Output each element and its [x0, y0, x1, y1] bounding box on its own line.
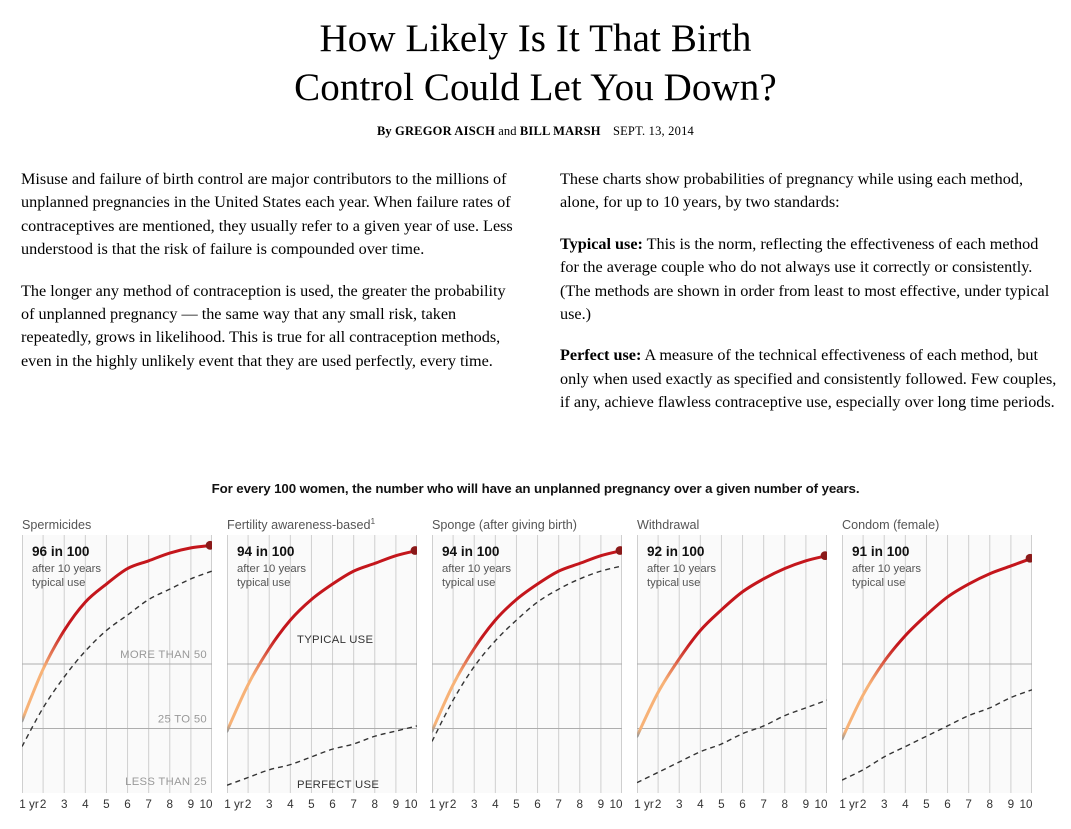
body-column-left: Misuse and failure of birth control are …	[21, 168, 518, 415]
x-axis-tick-label: 4	[492, 798, 499, 811]
panel-title: Condom (female)	[842, 515, 1032, 535]
chart-panel-spermicides: SpermicidesMORE THAN 5025 TO 50LESS THAN…	[22, 515, 212, 793]
x-axis-tick-label: 6	[534, 798, 541, 811]
x-axis-tick-label: 3	[471, 798, 478, 811]
x-axis-tick-label: 1 yr	[429, 798, 448, 811]
callout-subtext: typical use	[647, 577, 700, 589]
article-body: Misuse and failure of birth control are …	[0, 168, 1071, 415]
body-paragraph-intro: These charts show probabilities of pregn…	[560, 168, 1059, 215]
byline-author-1[interactable]: GREGOR AISCH	[395, 124, 495, 138]
x-axis-tick-label: 9	[598, 798, 605, 811]
x-axis-tick-label: 6	[124, 798, 131, 811]
callout-subtext: typical use	[442, 577, 495, 589]
band-label: MORE THAN 50	[120, 649, 207, 661]
panel-title: Sponge (after giving birth)	[432, 515, 622, 535]
x-axis-tick-label: 3	[881, 798, 888, 811]
x-axis-tick-label: 5	[923, 798, 930, 811]
x-axis-tick-label: 4	[287, 798, 294, 811]
x-axis-tick-label: 4	[82, 798, 89, 811]
chart-panel-sponge-after-giving-birth: Sponge (after giving birth)94 in 100afte…	[432, 515, 622, 793]
x-axis: 1 yr2345678910	[637, 798, 827, 818]
plot-area: 94 in 100after 10 yearstypical use	[432, 535, 622, 793]
panel-title: Withdrawal	[637, 515, 827, 535]
body-paragraph: Misuse and failure of birth control are …	[21, 168, 518, 262]
x-axis-tick-label: 8	[167, 798, 174, 811]
x-axis: 1 yr2345678910	[227, 798, 417, 818]
headline-line-1: How Likely Is It That Birth	[319, 17, 751, 60]
callout-value: 94 in 100	[442, 544, 499, 559]
x-axis-tick-label: 9	[188, 798, 195, 811]
x-axis-tick-label: 8	[372, 798, 379, 811]
x-axis-tick-label: 9	[1008, 798, 1015, 811]
x-axis-tick-label: 10	[404, 798, 417, 811]
byline-prefix: By	[377, 124, 392, 138]
x-axis-tick-label: 3	[676, 798, 683, 811]
x-axis-tick-label: 8	[782, 798, 789, 811]
callout-value: 94 in 100	[237, 544, 294, 559]
body-paragraph-perfect-use: Perfect use: A measure of the technical …	[560, 344, 1059, 414]
x-axis-group: 1 yr23456789101 yr23456789101 yr23456789…	[0, 798, 1071, 818]
x-axis-tick-label: 5	[513, 798, 520, 811]
typical-use-lead: Typical use:	[560, 235, 643, 253]
band-label: 25 TO 50	[158, 714, 207, 726]
x-axis-tick-label: 2	[655, 798, 662, 811]
x-axis-tick-label: 8	[987, 798, 994, 811]
body-column-right: These charts show probabilities of pregn…	[560, 168, 1059, 415]
byline-author-2[interactable]: BILL MARSH	[520, 124, 601, 138]
perfect-use-lead: Perfect use:	[560, 346, 641, 364]
x-axis-tick-label: 5	[103, 798, 110, 811]
x-axis-tick-label: 4	[697, 798, 704, 811]
plot-area: 91 in 100after 10 yearstypical use	[842, 535, 1032, 793]
callout-subtext: typical use	[32, 577, 85, 589]
panel-title-footnote[interactable]: 1	[371, 516, 376, 526]
x-axis-tick-label: 7	[145, 798, 152, 811]
x-axis-tick-label: 9	[803, 798, 810, 811]
x-axis-tick-label: 7	[760, 798, 767, 811]
band-label: LESS THAN 25	[125, 776, 207, 788]
x-axis-tick-label: 10	[199, 798, 212, 811]
callout-value: 92 in 100	[647, 544, 704, 559]
body-paragraph: The longer any method of contraception i…	[21, 280, 518, 374]
callout-value: 91 in 100	[852, 544, 909, 559]
x-axis-tick-label: 6	[944, 798, 951, 811]
headline-line-2: Control Could Let You Down?	[0, 63, 1071, 112]
panel-title: Spermicides	[22, 515, 212, 535]
x-axis-tick-label: 2	[450, 798, 457, 811]
x-axis-tick-label: 2	[860, 798, 867, 811]
x-axis-tick-label: 9	[393, 798, 400, 811]
callout-subtext: after 10 years	[647, 563, 716, 575]
page-title: How Likely Is It That Birth Control Coul…	[0, 0, 1071, 112]
x-axis-tick-label: 2	[245, 798, 252, 811]
x-axis-tick-label: 7	[350, 798, 357, 811]
chart-panel-fertility-awareness-based: Fertility awareness-based194 in 100after…	[227, 515, 417, 793]
x-axis: 1 yr2345678910	[842, 798, 1032, 818]
x-axis-tick-label: 1 yr	[224, 798, 243, 811]
x-axis-tick-label: 3	[61, 798, 68, 811]
chart-panel-group: SpermicidesMORE THAN 5025 TO 50LESS THAN…	[0, 515, 1071, 793]
byline-date: SEPT. 13, 2014	[613, 124, 694, 138]
byline-conjunction: and	[498, 124, 516, 138]
x-axis-tick-label: 6	[739, 798, 746, 811]
x-axis-tick-label: 1 yr	[839, 798, 858, 811]
body-paragraph-typical-use: Typical use: This is the norm, reflectin…	[560, 233, 1059, 327]
callout-subtext: after 10 years	[237, 563, 306, 575]
x-axis: 1 yr2345678910	[22, 798, 212, 818]
chart-panel-withdrawal: Withdrawal92 in 100after 10 yearstypical…	[637, 515, 827, 793]
x-axis-tick-label: 10	[1019, 798, 1032, 811]
x-axis-tick-label: 2	[40, 798, 47, 811]
x-axis-tick-label: 1 yr	[19, 798, 38, 811]
x-axis-tick-label: 3	[266, 798, 273, 811]
x-axis: 1 yr2345678910	[432, 798, 622, 818]
panel-title: Fertility awareness-based1	[227, 515, 417, 535]
callout-subtext: typical use	[237, 577, 290, 589]
x-axis-tick-label: 10	[609, 798, 622, 811]
chart-subtitle: For every 100 women, the number who will…	[0, 481, 1071, 496]
plot-area: MORE THAN 5025 TO 50LESS THAN 2596 in 10…	[22, 535, 212, 793]
byline: By GREGOR AISCH and BILL MARSH SEPT. 13,…	[0, 124, 1071, 139]
x-axis-tick-label: 4	[902, 798, 909, 811]
x-axis-tick-label: 5	[308, 798, 315, 811]
x-axis-tick-label: 7	[965, 798, 972, 811]
series-label-typical-use: TYPICAL USE	[297, 634, 373, 646]
callout-subtext: after 10 years	[32, 563, 101, 575]
x-axis-tick-label: 1 yr	[634, 798, 653, 811]
callout-value: 96 in 100	[32, 544, 89, 559]
callout-subtext: after 10 years	[852, 563, 921, 575]
x-axis-tick-label: 8	[577, 798, 584, 811]
x-axis-tick-label: 7	[555, 798, 562, 811]
x-axis-tick-label: 5	[718, 798, 725, 811]
series-label-perfect-use: PERFECT USE	[297, 779, 379, 791]
x-axis-tick-label: 6	[329, 798, 336, 811]
x-axis-tick-label: 10	[814, 798, 827, 811]
chart-panel-condom-female: Condom (female)91 in 100after 10 yearsty…	[842, 515, 1032, 793]
plot-area: 92 in 100after 10 yearstypical use	[637, 535, 827, 793]
callout-subtext: typical use	[852, 577, 905, 589]
callout-subtext: after 10 years	[442, 563, 511, 575]
plot-area: 94 in 100after 10 yearstypical useTYPICA…	[227, 535, 417, 793]
